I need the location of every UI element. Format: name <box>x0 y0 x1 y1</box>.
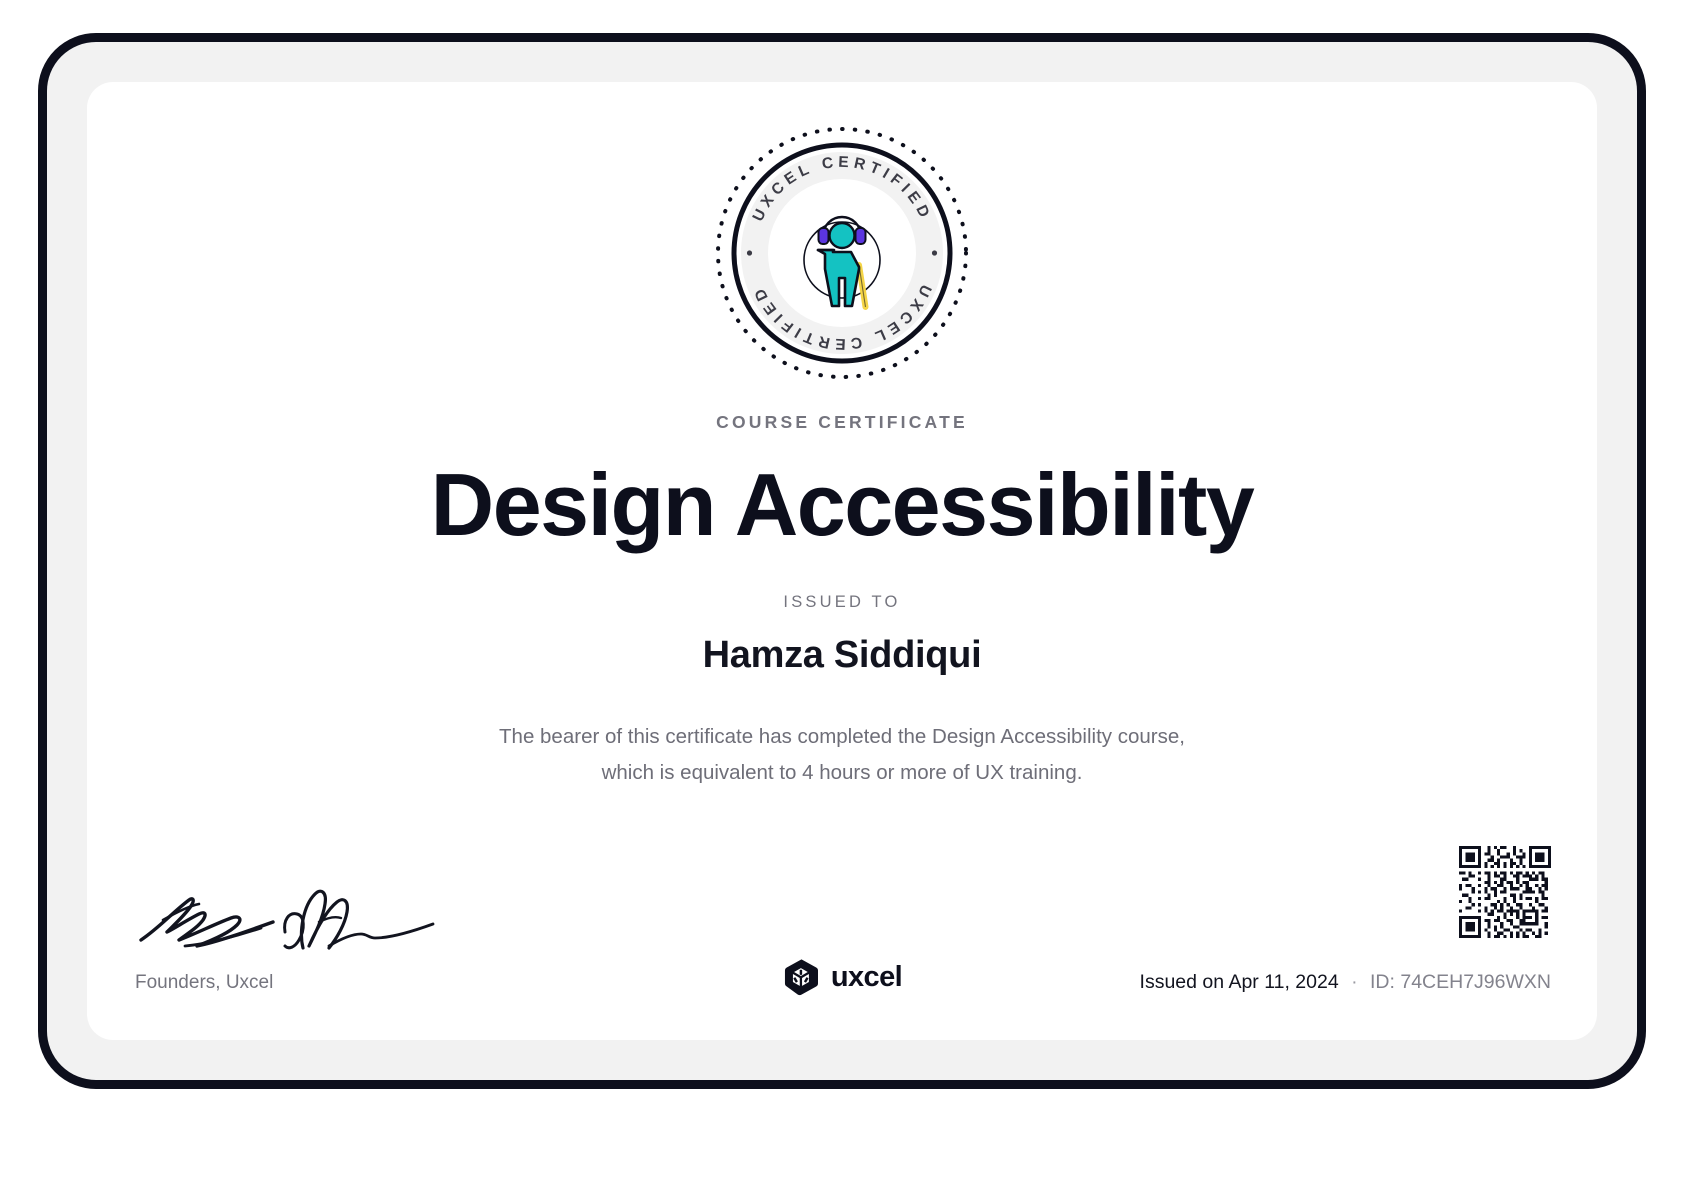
recipient-name: Hamza Siddiqui <box>87 634 1597 677</box>
badge-ring-dot-right <box>932 250 937 255</box>
uxcel-certified-badge: UXCEL CERTIFIED UXCEL CERTIFIED <box>713 124 971 382</box>
verification-qr-code[interactable] <box>1459 846 1551 938</box>
certificate-content: COURSE CERTIFICATE Design Accessibility … <box>87 412 1597 791</box>
certificate-id: ID: 74CEH7J96WXN <box>1370 971 1551 993</box>
founders-signatures <box>133 862 463 954</box>
uxcel-wordmark: uxcel <box>831 961 902 994</box>
certificate-frame: UXCEL CERTIFIED UXCEL CERTIFIED <box>38 33 1646 1089</box>
certificate-card: UXCEL CERTIFIED UXCEL CERTIFIED <box>87 82 1597 1040</box>
uxcel-hexagon-icon <box>782 958 820 996</box>
course-certificate-eyebrow: COURSE CERTIFICATE <box>87 412 1597 433</box>
course-title: Design Accessibility <box>87 459 1597 551</box>
certificate-description: The bearer of this certificate has compl… <box>87 719 1597 791</box>
description-line-2: which is equivalent to 4 hours or more o… <box>602 761 1083 784</box>
uxcel-brand-logo: uxcel <box>782 958 902 996</box>
issue-separator: · <box>1351 971 1358 993</box>
issue-info: Issued on Apr 11, 2024 · ID: 74CEH7J96WX… <box>1140 971 1551 994</box>
issued-to-label: ISSUED TO <box>87 593 1597 612</box>
founders-label: Founders, Uxcel <box>135 972 273 994</box>
description-line-1: The bearer of this certificate has compl… <box>499 725 1185 748</box>
issued-on-date: Issued on Apr 11, 2024 <box>1140 971 1339 993</box>
badge-ring-dot-left <box>747 250 752 255</box>
certificate-footer: Founders, Uxcel uxcel <box>133 830 1551 1010</box>
